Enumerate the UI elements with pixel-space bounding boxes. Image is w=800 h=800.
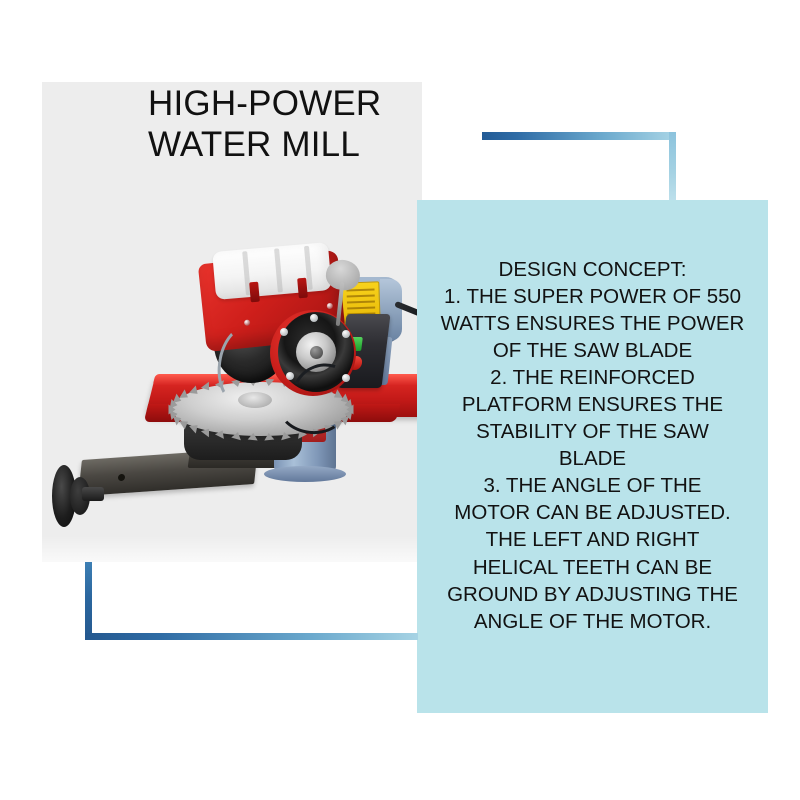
- water-tank: [212, 242, 332, 300]
- saw-tooth: [247, 432, 258, 440]
- design-concept-text: DESIGN CONCEPT: 1. THE SUPER POWER OF 55…: [431, 256, 754, 635]
- hand-wheel-shaft: [82, 487, 104, 501]
- label-text-line: [347, 301, 375, 304]
- product-poster: HIGH-POWER WATER MILL DESIGN CONCEPT: 1.…: [0, 0, 800, 800]
- grinding-wheel-nut: [310, 346, 323, 359]
- tank-rib: [274, 248, 283, 292]
- flange-bolt: [286, 372, 294, 380]
- frame-top-right-vertical: [669, 132, 676, 200]
- tank-clip: [249, 282, 260, 303]
- housing-bolt: [327, 303, 334, 310]
- housing-bolt: [244, 319, 251, 326]
- flange-bolt: [280, 328, 288, 336]
- flange-bolt: [310, 314, 318, 322]
- saw-tooth: [264, 432, 275, 440]
- design-concept-panel: DESIGN CONCEPT: 1. THE SUPER POWER OF 55…: [417, 200, 768, 713]
- page-title: HIGH-POWER WATER MILL: [148, 84, 448, 165]
- frame-top-right-horizontal: [482, 132, 676, 140]
- tank-clip: [297, 278, 308, 299]
- flange-bolt: [342, 330, 350, 338]
- label-text-line: [347, 295, 375, 298]
- frame-bottom-left-vertical: [85, 562, 92, 640]
- label-text-line: [347, 307, 375, 310]
- frame-bottom-left-horizontal: [85, 633, 418, 640]
- blue-column-foot: [264, 466, 346, 482]
